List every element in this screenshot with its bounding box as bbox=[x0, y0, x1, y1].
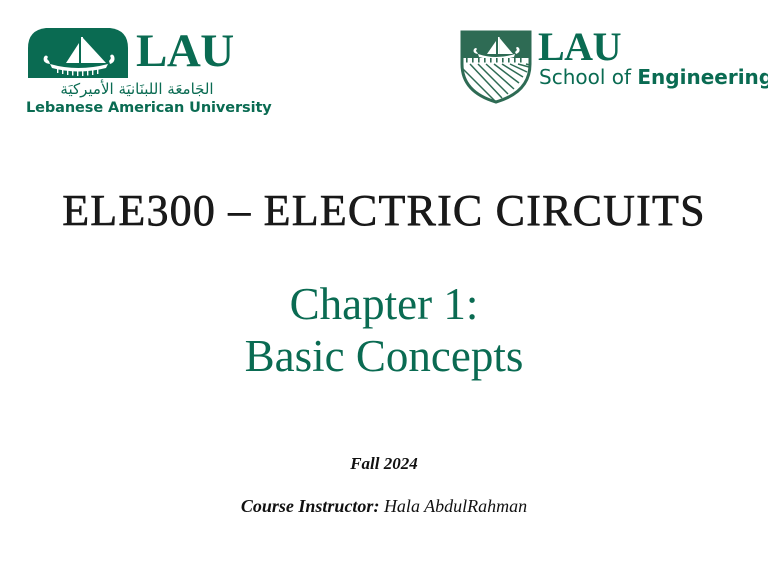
lau-logo-top-row: LAU bbox=[26, 26, 266, 82]
school-of-engineering-label: School of Engineering bbox=[539, 64, 768, 90]
engineering-text: Engineering bbox=[637, 65, 768, 89]
chapter-name-line: Basic Concepts bbox=[0, 330, 768, 382]
chapter-heading: Chapter 1: Basic Concepts bbox=[0, 278, 768, 382]
instructor-name: Hala AbdulRahman bbox=[384, 496, 527, 516]
school-of-text: School of bbox=[539, 65, 631, 89]
lau-university-logo: LAU الجَامعَة اللبنَانيَة الأميركيَة Leb… bbox=[26, 26, 266, 126]
phoenician-ship-arch-icon bbox=[26, 26, 130, 78]
instructor-line: Course Instructor: Hala AbdulRahman bbox=[0, 494, 768, 518]
lau-arabic-name: الجَامعَة اللبنَانيَة الأميركيَة bbox=[26, 80, 248, 99]
presentation-title-slide: LAU الجَامعَة اللبنَانيَة الأميركيَة Leb… bbox=[0, 0, 768, 576]
shield-ship-icon bbox=[458, 28, 534, 104]
lau-school-of-engineering-logo: LAU School of Engineering bbox=[458, 28, 748, 106]
instructor-label: Course Instructor: bbox=[241, 496, 380, 516]
course-title: ELE300 – ELECTRIC CIRCUITS bbox=[0, 184, 768, 238]
term-label: Fall 2024 bbox=[0, 453, 768, 475]
lau-wordmark: LAU bbox=[136, 23, 234, 79]
lau-english-name: Lebanese American University bbox=[26, 99, 248, 117]
chapter-number-line: Chapter 1: bbox=[0, 278, 768, 330]
